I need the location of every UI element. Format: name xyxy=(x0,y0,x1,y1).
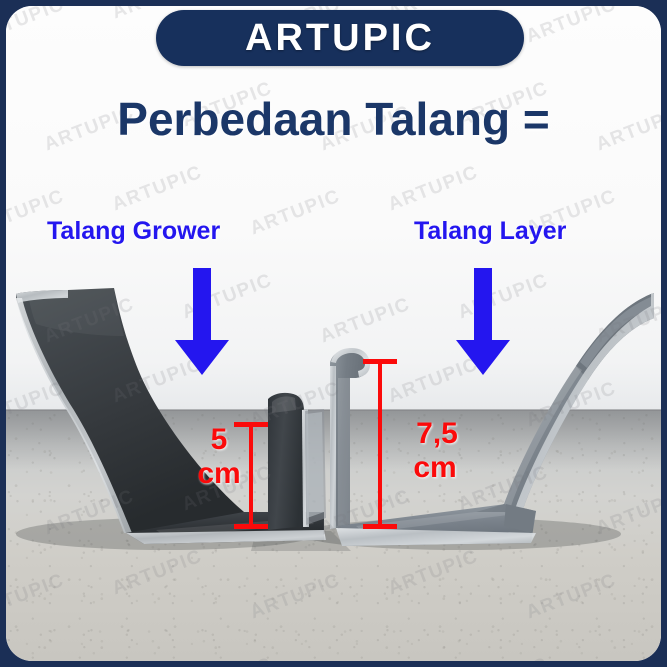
down-arrow-icon xyxy=(172,268,232,376)
gutter-left-front-lip xyxy=(268,393,305,530)
page-title: Perbedaan Talang = xyxy=(6,92,661,146)
measurement-value-right: 7,5 xyxy=(396,418,478,450)
down-arrow-icon xyxy=(453,268,513,376)
measurement-unit-right: cm xyxy=(400,452,470,484)
brand-badge-label: ARTUPIC xyxy=(245,17,435,60)
poster-canvas: ARTUPIC ARTUPIC ARTUPIC ARTUPIC ARTUPIC … xyxy=(6,6,661,661)
measurement-unit-left: cm xyxy=(186,458,252,490)
poster-frame: ARTUPIC ARTUPIC ARTUPIC ARTUPIC ARTUPIC … xyxy=(0,0,667,667)
product-label-left: Talang Grower xyxy=(47,217,220,246)
measurement-value-left: 5 xyxy=(196,424,242,456)
product-label-right: Talang Layer xyxy=(414,217,566,246)
brand-badge: ARTUPIC xyxy=(156,10,524,66)
